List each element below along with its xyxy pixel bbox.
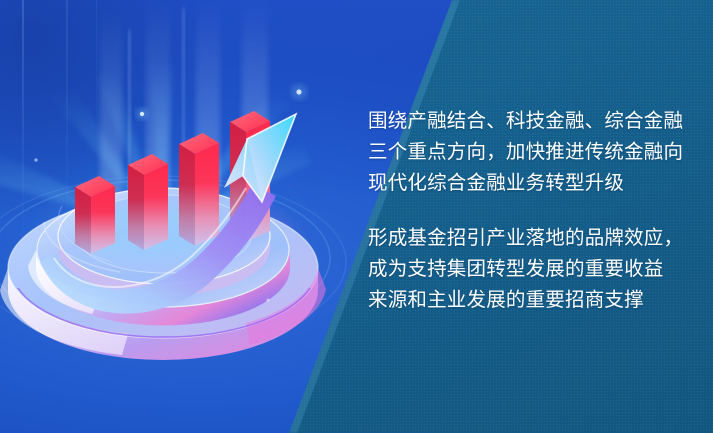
paragraph-2-line-2: 成为支持集团转型发展的重要收益 (368, 254, 698, 285)
paragraph-1-line-3: 现代化综合金融业务转型升级 (368, 168, 698, 199)
bar-3 (179, 133, 219, 246)
copy-block: 围绕产融结合、科技金融、综合金融 三个重点方向，加快推进传统金融向 现代化综合金… (368, 106, 698, 316)
paragraph-2-line-1: 形成基金招引产业落地的品牌效应， (368, 223, 698, 254)
paragraph-1: 围绕产融结合、科技金融、综合金融 三个重点方向，加快推进传统金融向 现代化综合金… (368, 106, 698, 199)
paragraph-2: 形成基金招引产业落地的品牌效应， 成为支持集团转型发展的重要收益 来源和主业发展… (368, 223, 698, 316)
bar-1 (75, 176, 115, 254)
banner-root: 围绕产融结合、科技金融、综合金融 三个重点方向，加快推进传统金融向 现代化综合金… (0, 0, 713, 433)
paragraph-1-line-2: 三个重点方向，加快推进传统金融向 (368, 137, 698, 168)
paragraph-2-line-3: 来源和主业发展的重要招商支撑 (368, 285, 698, 316)
bar-2 (128, 154, 168, 250)
paragraph-1-line-1: 围绕产融结合、科技金融、综合金融 (368, 106, 698, 137)
